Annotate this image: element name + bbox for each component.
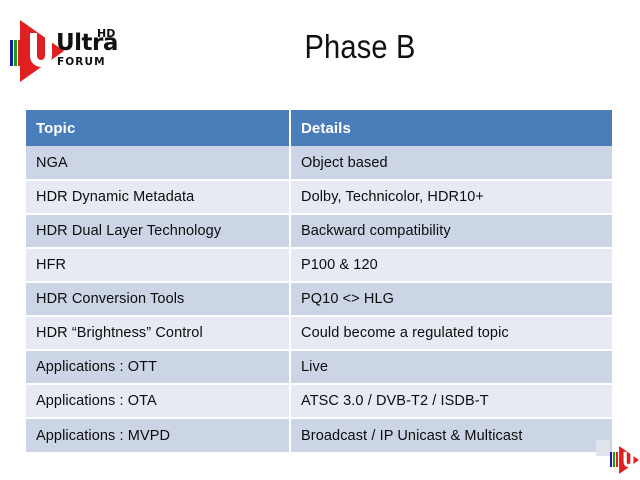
table-header: Topic Details <box>26 110 612 146</box>
cell-details: P100 & 120 <box>290 248 612 282</box>
mini-logo-bar-blue <box>610 452 612 467</box>
table-row: Applications : OTT Live <box>26 350 612 384</box>
cell-topic: Applications : OTA <box>26 384 290 418</box>
cell-topic: Applications : OTT <box>26 350 290 384</box>
cell-details: Dolby, Technicolor, HDR10+ <box>290 180 612 214</box>
cell-details: Object based <box>290 146 612 180</box>
cell-details: ATSC 3.0 / DVB-T2 / ISDB-T <box>290 384 612 418</box>
cell-topic: HDR Conversion Tools <box>26 282 290 316</box>
cell-details: Broadcast / IP Unicast & Multicast <box>290 418 612 452</box>
cell-topic: HDR “Brightness” Control <box>26 316 290 350</box>
slide-canvas: Ultra HD FORUM Phase B Topic Details NGA… <box>0 0 640 480</box>
cell-topic: HDR Dynamic Metadata <box>26 180 290 214</box>
table-row: NGA Object based <box>26 146 612 180</box>
table-row: Applications : OTA ATSC 3.0 / DVB-T2 / I… <box>26 384 612 418</box>
column-header-topic: Topic <box>26 110 290 146</box>
logo-forum-subtitle: FORUM <box>57 57 106 68</box>
ultra-hd-forum-logo-small <box>610 443 640 475</box>
table-body: NGA Object based HDR Dynamic Metadata Do… <box>26 146 612 452</box>
logo-bar-green <box>14 40 17 66</box>
mini-logo-color-bars <box>610 452 618 467</box>
cell-details: Could become a regulated topic <box>290 316 612 350</box>
table-row: HDR Conversion Tools PQ10 <> HLG <box>26 282 612 316</box>
cell-topic: HFR <box>26 248 290 282</box>
mini-logo-triangle-u-icon <box>618 446 640 474</box>
cell-details: PQ10 <> HLG <box>290 282 612 316</box>
table-row: HFR P100 & 120 <box>26 248 612 282</box>
ultra-hd-forum-logo: Ultra HD FORUM <box>10 18 122 80</box>
cell-details: Live <box>290 350 612 384</box>
table-header-row: Topic Details <box>26 110 612 146</box>
cell-topic: NGA <box>26 146 290 180</box>
table-row: HDR Dynamic Metadata Dolby, Technicolor,… <box>26 180 612 214</box>
table-row: HDR “Brightness” Control Could become a … <box>26 316 612 350</box>
table-row: Applications : MVPD Broadcast / IP Unica… <box>26 418 612 452</box>
cell-details: Backward compatibility <box>290 214 612 248</box>
logo-hd-superscript: HD <box>97 28 115 39</box>
phase-b-table: Topic Details NGA Object based HDR Dynam… <box>26 110 612 452</box>
column-header-details: Details <box>290 110 612 146</box>
cell-topic: Applications : MVPD <box>26 418 290 452</box>
table-row: HDR Dual Layer Technology Backward compa… <box>26 214 612 248</box>
slide-edge-artifact <box>596 440 610 456</box>
mini-logo-bar-green <box>613 452 615 467</box>
logo-bar-blue <box>10 40 13 66</box>
cell-topic: HDR Dual Layer Technology <box>26 214 290 248</box>
page-title: Phase B <box>184 28 536 66</box>
